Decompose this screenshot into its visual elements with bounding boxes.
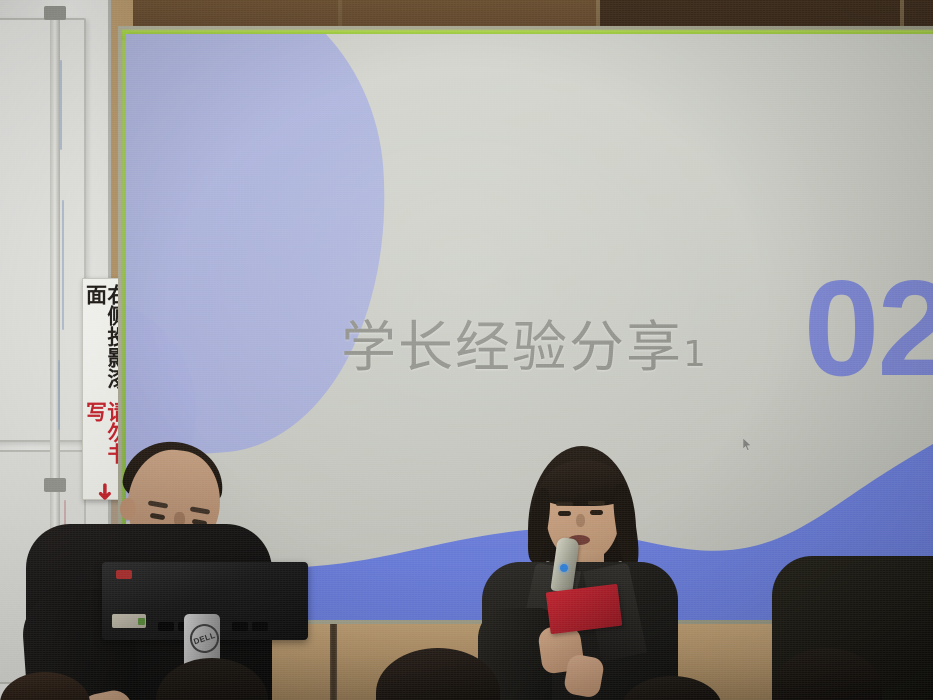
monitor-port — [232, 622, 248, 631]
presenter-nose — [576, 514, 585, 527]
whiteboard-marking — [60, 60, 62, 150]
monitor-port — [158, 622, 174, 631]
slide-section-number: 02 — [804, 260, 933, 396]
microphone-led-icon — [560, 564, 568, 572]
whiteboard-panel-upper — [0, 18, 86, 442]
operator-ear — [120, 498, 136, 520]
monitor-label-sticker — [138, 618, 145, 625]
presenter-person — [470, 440, 690, 700]
whiteboard-marking — [58, 360, 60, 430]
whiteboard-rail-cap-top — [44, 6, 66, 20]
presenter-eyebrow — [556, 502, 573, 506]
dell-logo-text: DELL — [192, 631, 216, 647]
monitor-red-badge — [116, 570, 132, 579]
red-note-card — [546, 584, 623, 634]
slide-title: 学长经验分享1 — [341, 302, 706, 382]
presenter-eyebrow — [588, 501, 605, 505]
slide-title-suffix: 1 — [683, 334, 706, 375]
slide-title-main: 学长经验分享 — [341, 315, 683, 379]
presenter-eye — [558, 511, 571, 516]
classroom-photo-scene: 右侧投影漆面 请勿书写 ➜ 02 学长经验分享1 — [0, 0, 933, 700]
mouse-cursor-icon[interactable] — [743, 438, 752, 451]
monitor-port — [252, 622, 268, 631]
whiteboard-marking — [62, 200, 64, 330]
presenter-eye — [590, 510, 603, 515]
